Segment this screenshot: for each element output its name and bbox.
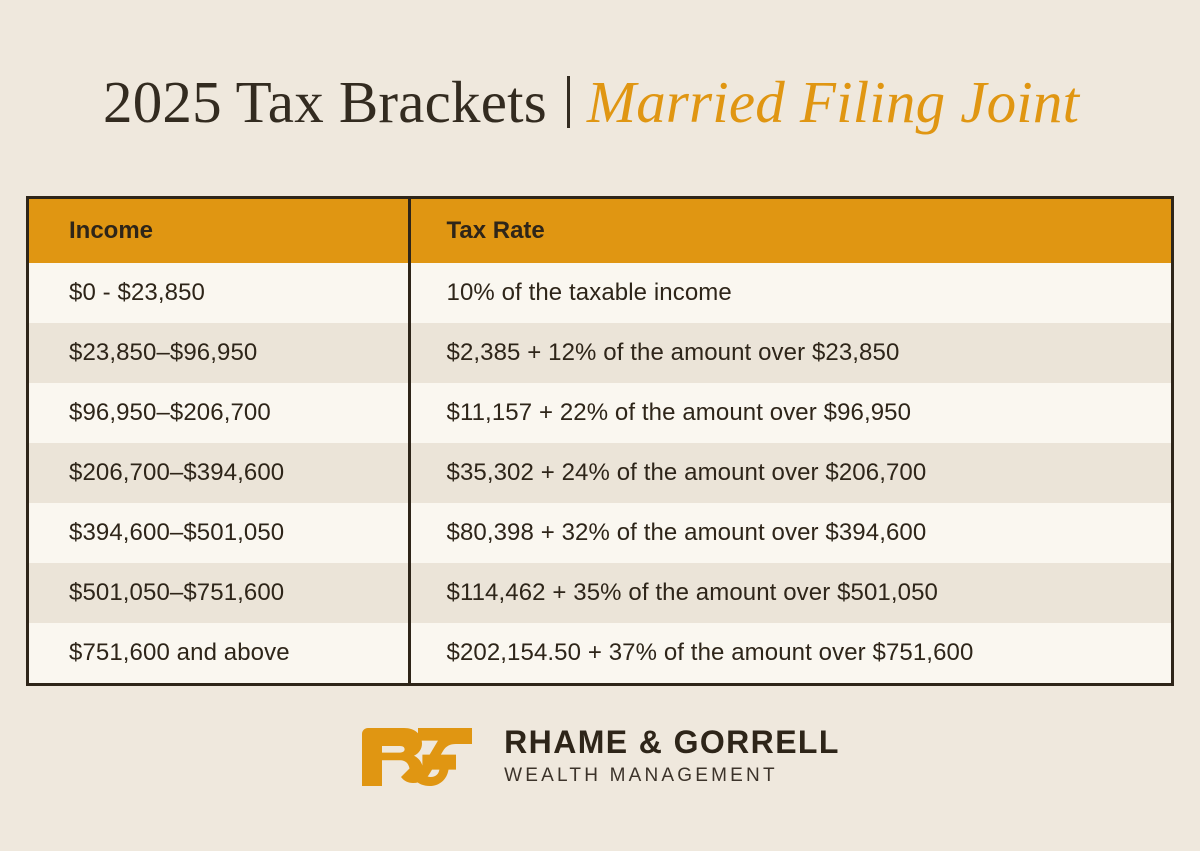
title-accent-text: Married Filing Joint	[587, 68, 1079, 137]
cell-income: $206,700–$394,600	[29, 443, 409, 503]
column-header-income: Income	[29, 199, 409, 263]
logo-company-name: RHAME & GORRELL	[504, 726, 840, 760]
cell-tax-rate: $80,398 + 32% of the amount over $394,60…	[409, 503, 1171, 563]
table-row: $0 - $23,850 10% of the taxable income	[29, 263, 1171, 323]
cell-tax-rate: $2,385 + 12% of the amount over $23,850	[409, 323, 1171, 383]
tax-bracket-infographic: 2025 Tax Brackets Married Filing Joint I…	[0, 0, 1200, 851]
title-separator-bar	[567, 76, 570, 128]
table-row: $23,850–$96,950 $2,385 + 12% of the amou…	[29, 323, 1171, 383]
cell-tax-rate: $35,302 + 24% of the amount over $206,70…	[409, 443, 1171, 503]
cell-income: $501,050–$751,600	[29, 563, 409, 623]
page-title: 2025 Tax Brackets Married Filing Joint	[103, 68, 1079, 137]
column-header-tax-rate: Tax Rate	[409, 199, 1171, 263]
cell-income: $96,950–$206,700	[29, 383, 409, 443]
logo-tagline: WEALTH MANAGEMENT	[504, 765, 840, 788]
table-row: $96,950–$206,700 $11,157 + 22% of the am…	[29, 383, 1171, 443]
cell-income: $751,600 and above	[29, 623, 409, 683]
logo-wordmark: RHAME & GORRELL WEALTH MANAGEMENT	[504, 726, 840, 787]
cell-income: $0 - $23,850	[29, 263, 409, 323]
title-main-text: 2025 Tax Brackets	[103, 68, 547, 137]
cell-tax-rate: $11,157 + 22% of the amount over $96,950	[409, 383, 1171, 443]
rg-monogram-icon	[360, 726, 478, 788]
cell-tax-rate: $202,154.50 + 37% of the amount over $75…	[409, 623, 1171, 683]
cell-income: $394,600–$501,050	[29, 503, 409, 563]
table-row: $751,600 and above $202,154.50 + 37% of …	[29, 623, 1171, 683]
tax-bracket-table: Income Tax Rate $0 - $23,850 10% of the …	[26, 196, 1174, 686]
table-row: $394,600–$501,050 $80,398 + 32% of the a…	[29, 503, 1171, 563]
table-row: $501,050–$751,600 $114,462 + 35% of the …	[29, 563, 1171, 623]
cell-tax-rate: $114,462 + 35% of the amount over $501,0…	[409, 563, 1171, 623]
table-row: $206,700–$394,600 $35,302 + 24% of the a…	[29, 443, 1171, 503]
company-logo: RHAME & GORRELL WEALTH MANAGEMENT	[0, 726, 1200, 788]
cell-tax-rate: 10% of the taxable income	[409, 263, 1171, 323]
table-header-row: Income Tax Rate	[29, 199, 1171, 263]
cell-income: $23,850–$96,950	[29, 323, 409, 383]
